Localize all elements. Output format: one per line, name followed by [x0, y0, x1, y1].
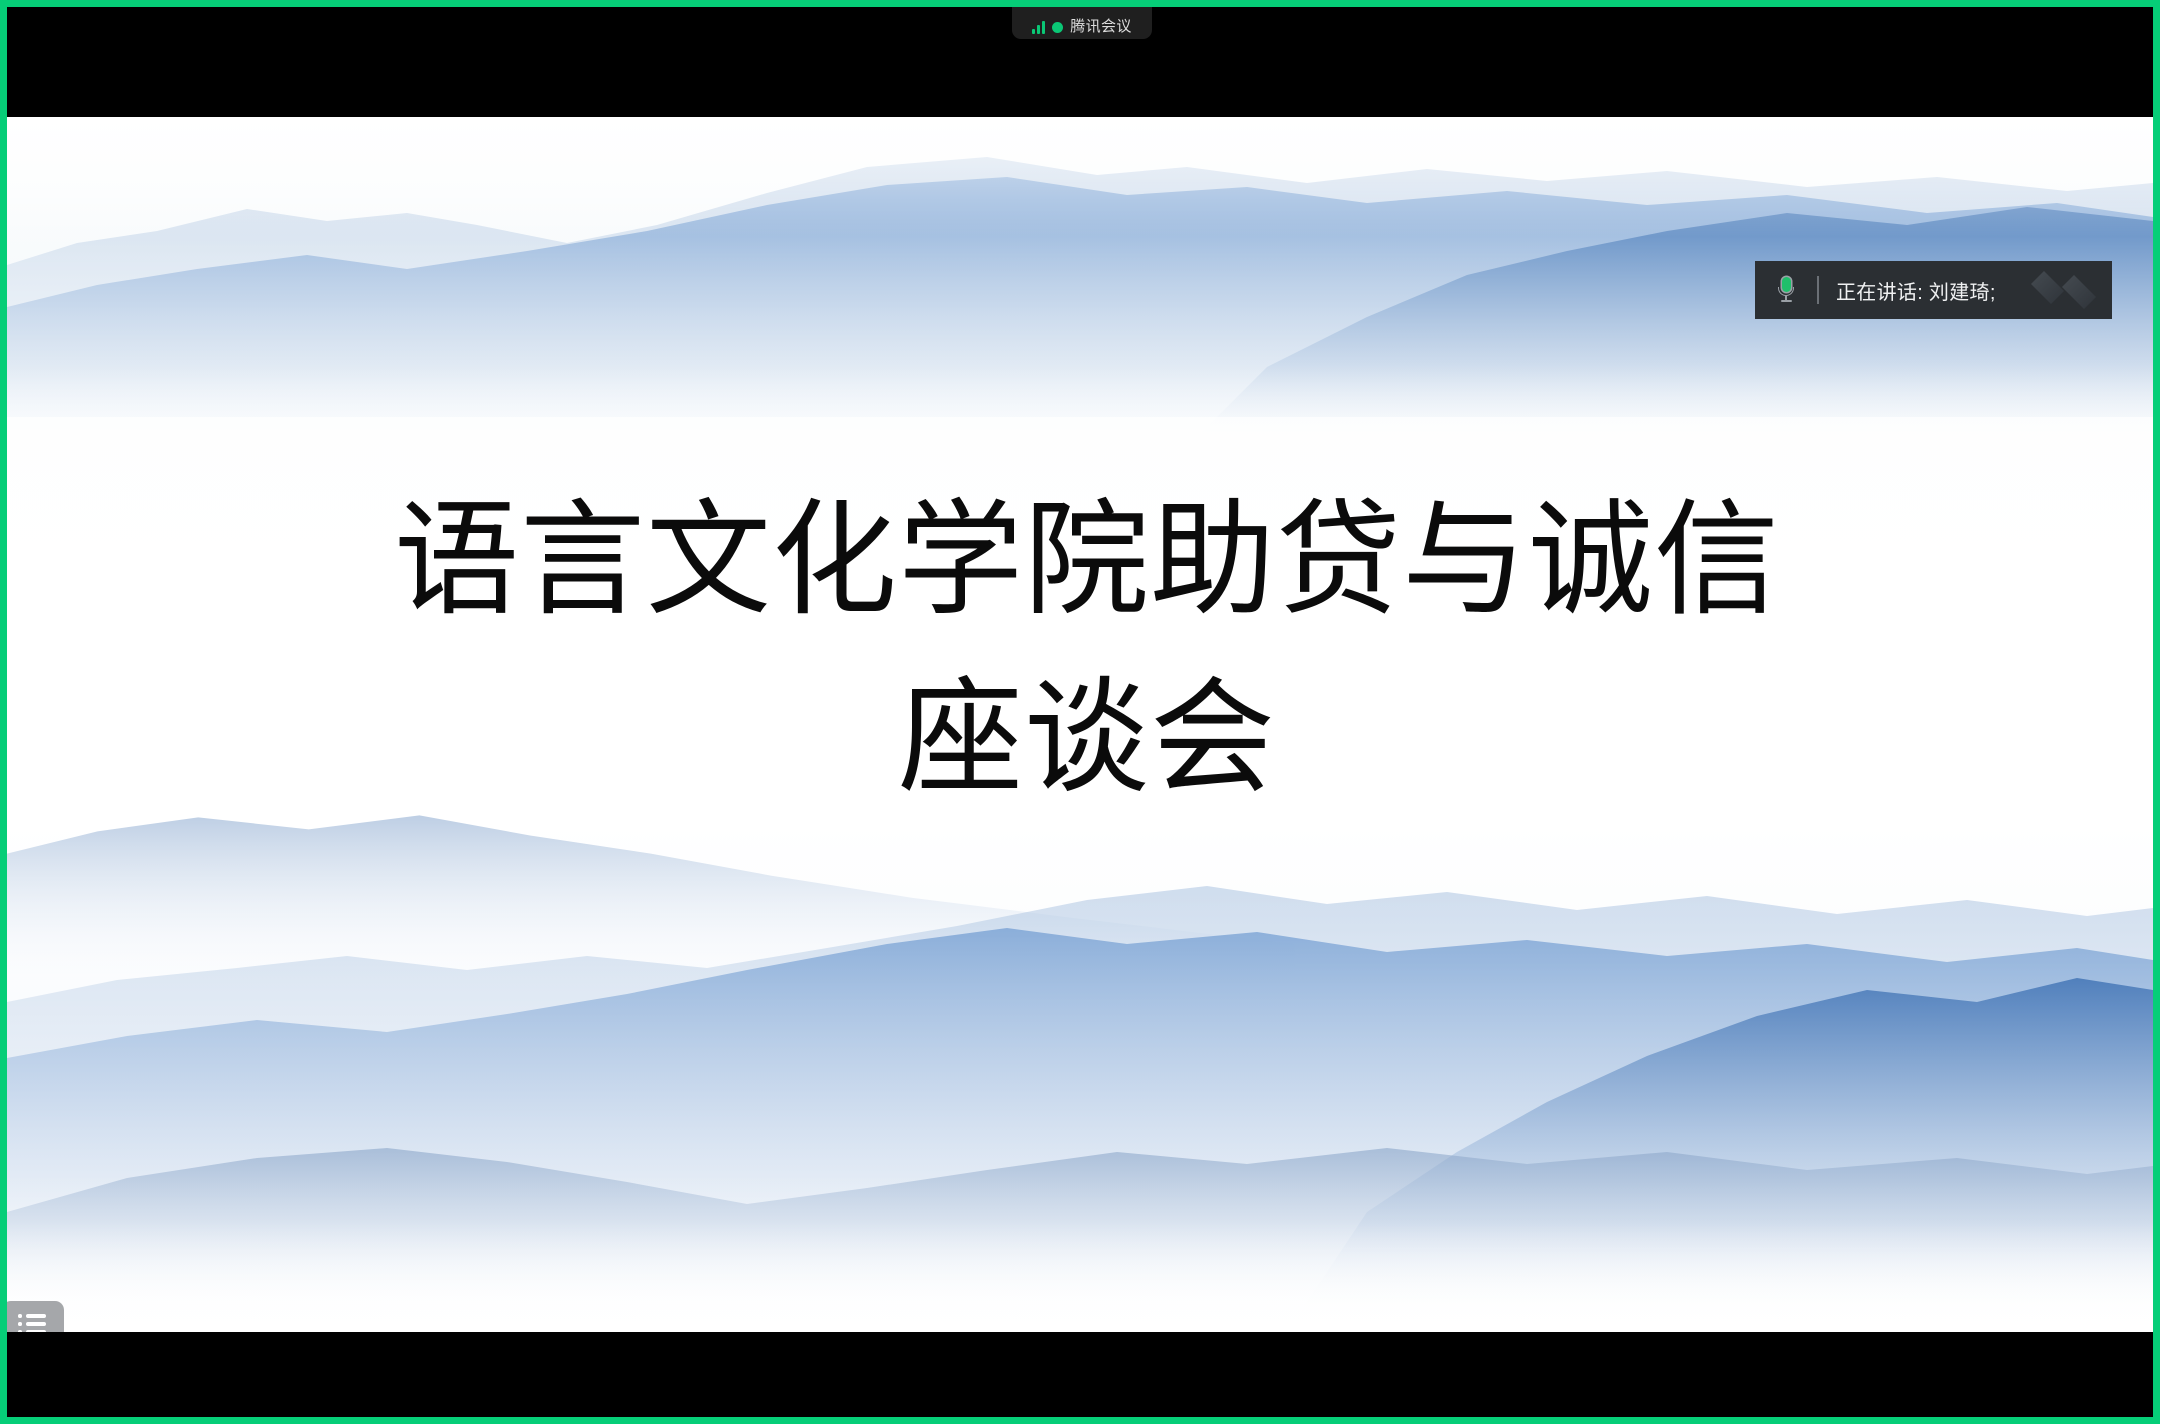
meeting-status-pill[interactable]: 腾讯会议: [1012, 0, 1152, 39]
meeting-app-name: 腾讯会议: [1070, 19, 1132, 34]
active-speaker-badge[interactable]: 正在讲话: 刘建琦;: [1755, 261, 2112, 319]
presenter-options-button[interactable]: [7, 1301, 64, 1332]
mountain-range-bottom: [7, 852, 2153, 1332]
microphone-icon: [1755, 277, 1817, 303]
slide-title: 语言文化学院助贷与诚信 座谈会: [307, 472, 1867, 827]
bulleted-list-icon: [18, 1313, 48, 1332]
shared-screen-frame: 语言文化学院助贷与诚信 座谈会 腾讯会议 正在讲话: 刘: [0, 0, 2160, 1424]
badge-divider: [1817, 276, 1819, 304]
recording-dot-icon: [1052, 22, 1063, 33]
signal-bars-icon: [1032, 21, 1045, 34]
tencent-meeting-logo-icon: [2018, 265, 2104, 315]
